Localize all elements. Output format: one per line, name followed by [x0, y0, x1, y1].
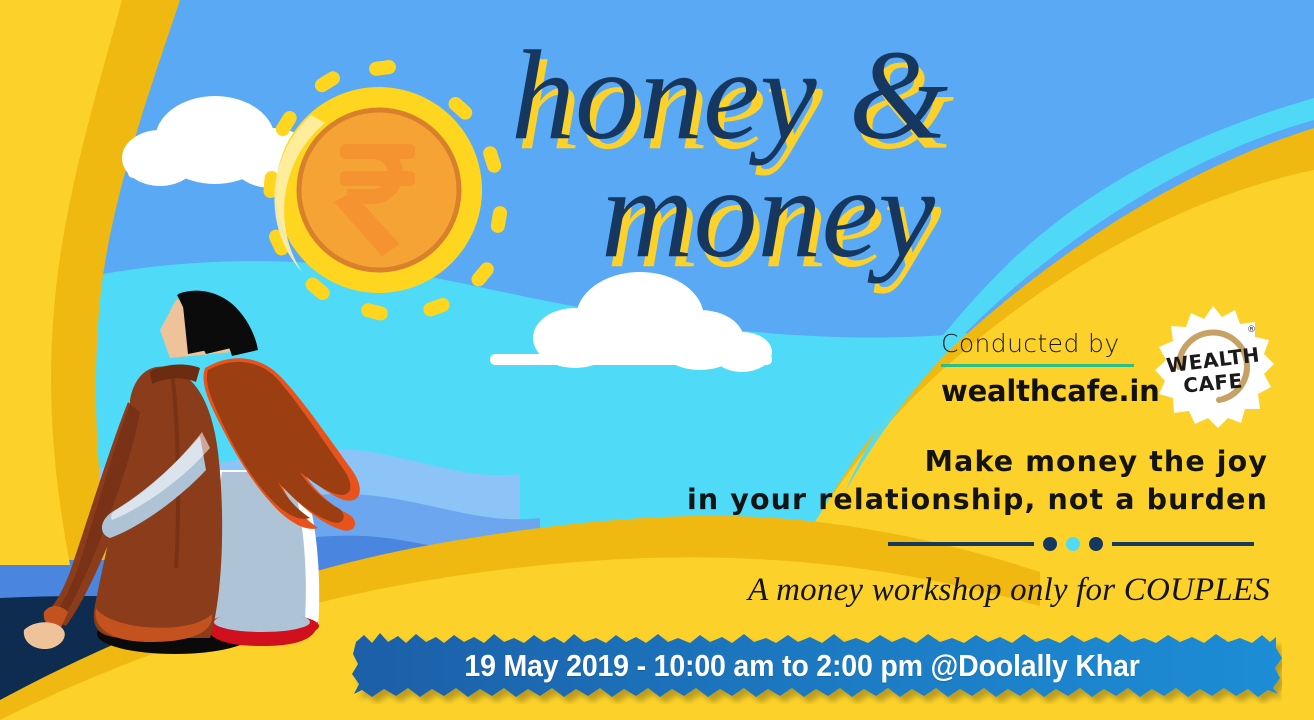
website-link[interactable]: wealthcafe.in [941, 374, 1141, 408]
divider [888, 537, 1266, 551]
divider-line-right [1112, 542, 1254, 546]
wealth-cafe-logo[interactable]: ® WEALTH CAFE [1152, 306, 1274, 428]
date-banner: 19 May 2019 - 10:00 am to 2:00 pm @Doola… [352, 628, 1282, 704]
divider-dot-3 [1089, 537, 1103, 551]
divider-dot-1 [1043, 537, 1057, 551]
date-banner-text: 19 May 2019 - 10:00 am to 2:00 pm @Doola… [388, 628, 1216, 704]
conducted-by-block: Conducted by wealthcafe.in [941, 331, 1141, 408]
subline: A money workshop only for COUPLES [540, 572, 1270, 609]
divider-line-left [888, 542, 1034, 546]
registered-mark: ® [1247, 325, 1256, 335]
poster-title: honey & money honey & money [505, 8, 975, 288]
conducted-by-rule [941, 364, 1134, 367]
divider-dot-2 [1066, 537, 1080, 551]
tagline-line-2: in your relationship, not a burden [600, 481, 1268, 519]
poster-canvas: honey & money honey & money Conducted by… [0, 0, 1314, 720]
conducted-by-label: Conducted by [941, 331, 1141, 356]
tagline-line-1: Make money the joy [600, 443, 1268, 481]
title-line2: money [601, 142, 935, 284]
tagline: Make money the joy in your relationship,… [600, 443, 1268, 519]
